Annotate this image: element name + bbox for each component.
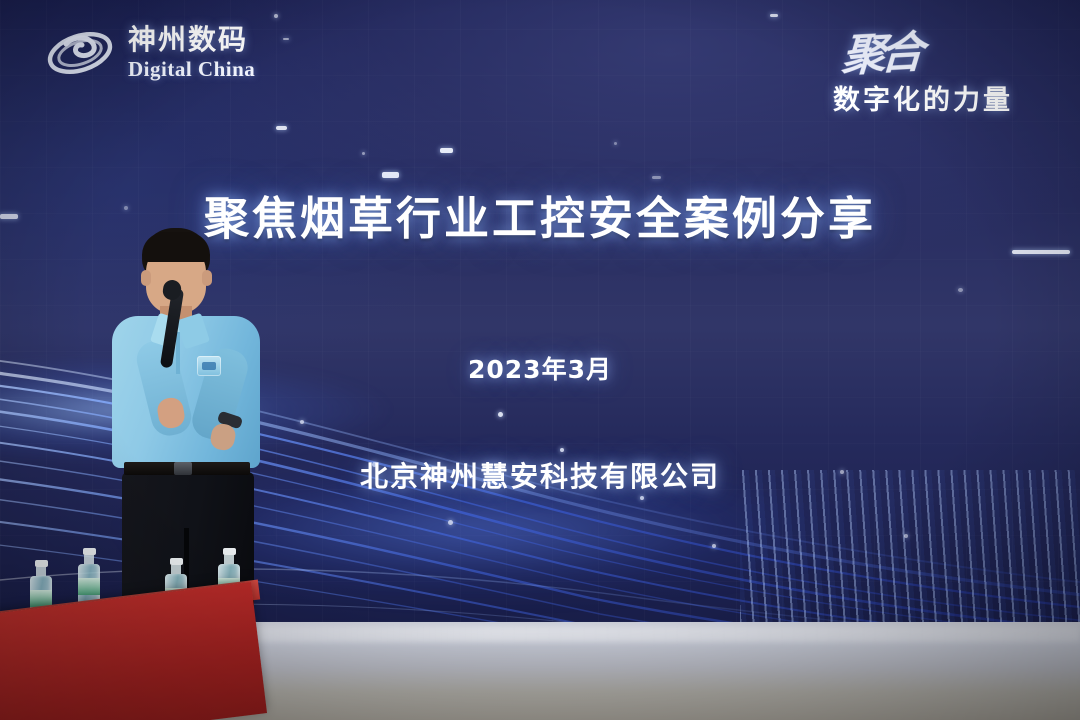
- particle-dot: [958, 288, 963, 292]
- particle-dot: [448, 520, 453, 525]
- digital-china-logo: 神州数码 Digital China: [44, 22, 255, 84]
- bottle-neck: [171, 565, 181, 574]
- digital-china-swirl-icon: [44, 22, 116, 84]
- particle-dot: [440, 148, 453, 153]
- bottle-label: [78, 578, 100, 595]
- particle-dot: [640, 496, 644, 500]
- speaker-left-ear: [141, 270, 151, 286]
- event-logo: 聚合 数字化的力量: [788, 18, 1058, 117]
- particle-dot: [614, 142, 617, 145]
- particle-dot: [274, 14, 278, 18]
- bottle-cap: [83, 548, 96, 555]
- speaker-right-ear: [202, 270, 212, 286]
- event-tagline-cn: 数字化的力量: [788, 78, 1058, 117]
- particle-dot: [498, 412, 503, 417]
- particle-dot: [362, 152, 365, 155]
- brand-name-cn: 神州数码: [128, 26, 255, 54]
- bottle-neck: [84, 555, 94, 564]
- particle-dot: [300, 420, 304, 424]
- event-seal-cn: 聚合: [840, 16, 920, 84]
- particle-dot: [382, 172, 399, 178]
- particle-dot: [276, 126, 287, 130]
- particle-streak: [1012, 250, 1070, 254]
- speaker-chest-logo-badge: [197, 356, 221, 376]
- bottle-cap: [35, 560, 48, 567]
- speaker-shirt-placket: [176, 332, 180, 374]
- particle-dot: [770, 14, 778, 17]
- speaker-hair-top: [142, 232, 210, 262]
- particle-dot: [560, 448, 564, 452]
- particle-dot: [283, 38, 289, 40]
- particle-dot: [904, 534, 908, 538]
- particle-dot: [652, 176, 661, 179]
- bottle-cap: [223, 548, 236, 555]
- particle-dot: [712, 544, 716, 548]
- bottle-neck: [224, 555, 234, 564]
- brand-name-en: Digital China: [128, 59, 255, 80]
- bottle-neck: [36, 567, 46, 576]
- speaker-belt-buckle: [174, 462, 192, 475]
- conference-stage-photo: 神州数码 Digital China 聚合 数字化的力量 聚焦烟草行业工控安全案…: [0, 0, 1080, 720]
- bottle-cap: [170, 558, 183, 565]
- speaker-presenter: [92, 228, 282, 628]
